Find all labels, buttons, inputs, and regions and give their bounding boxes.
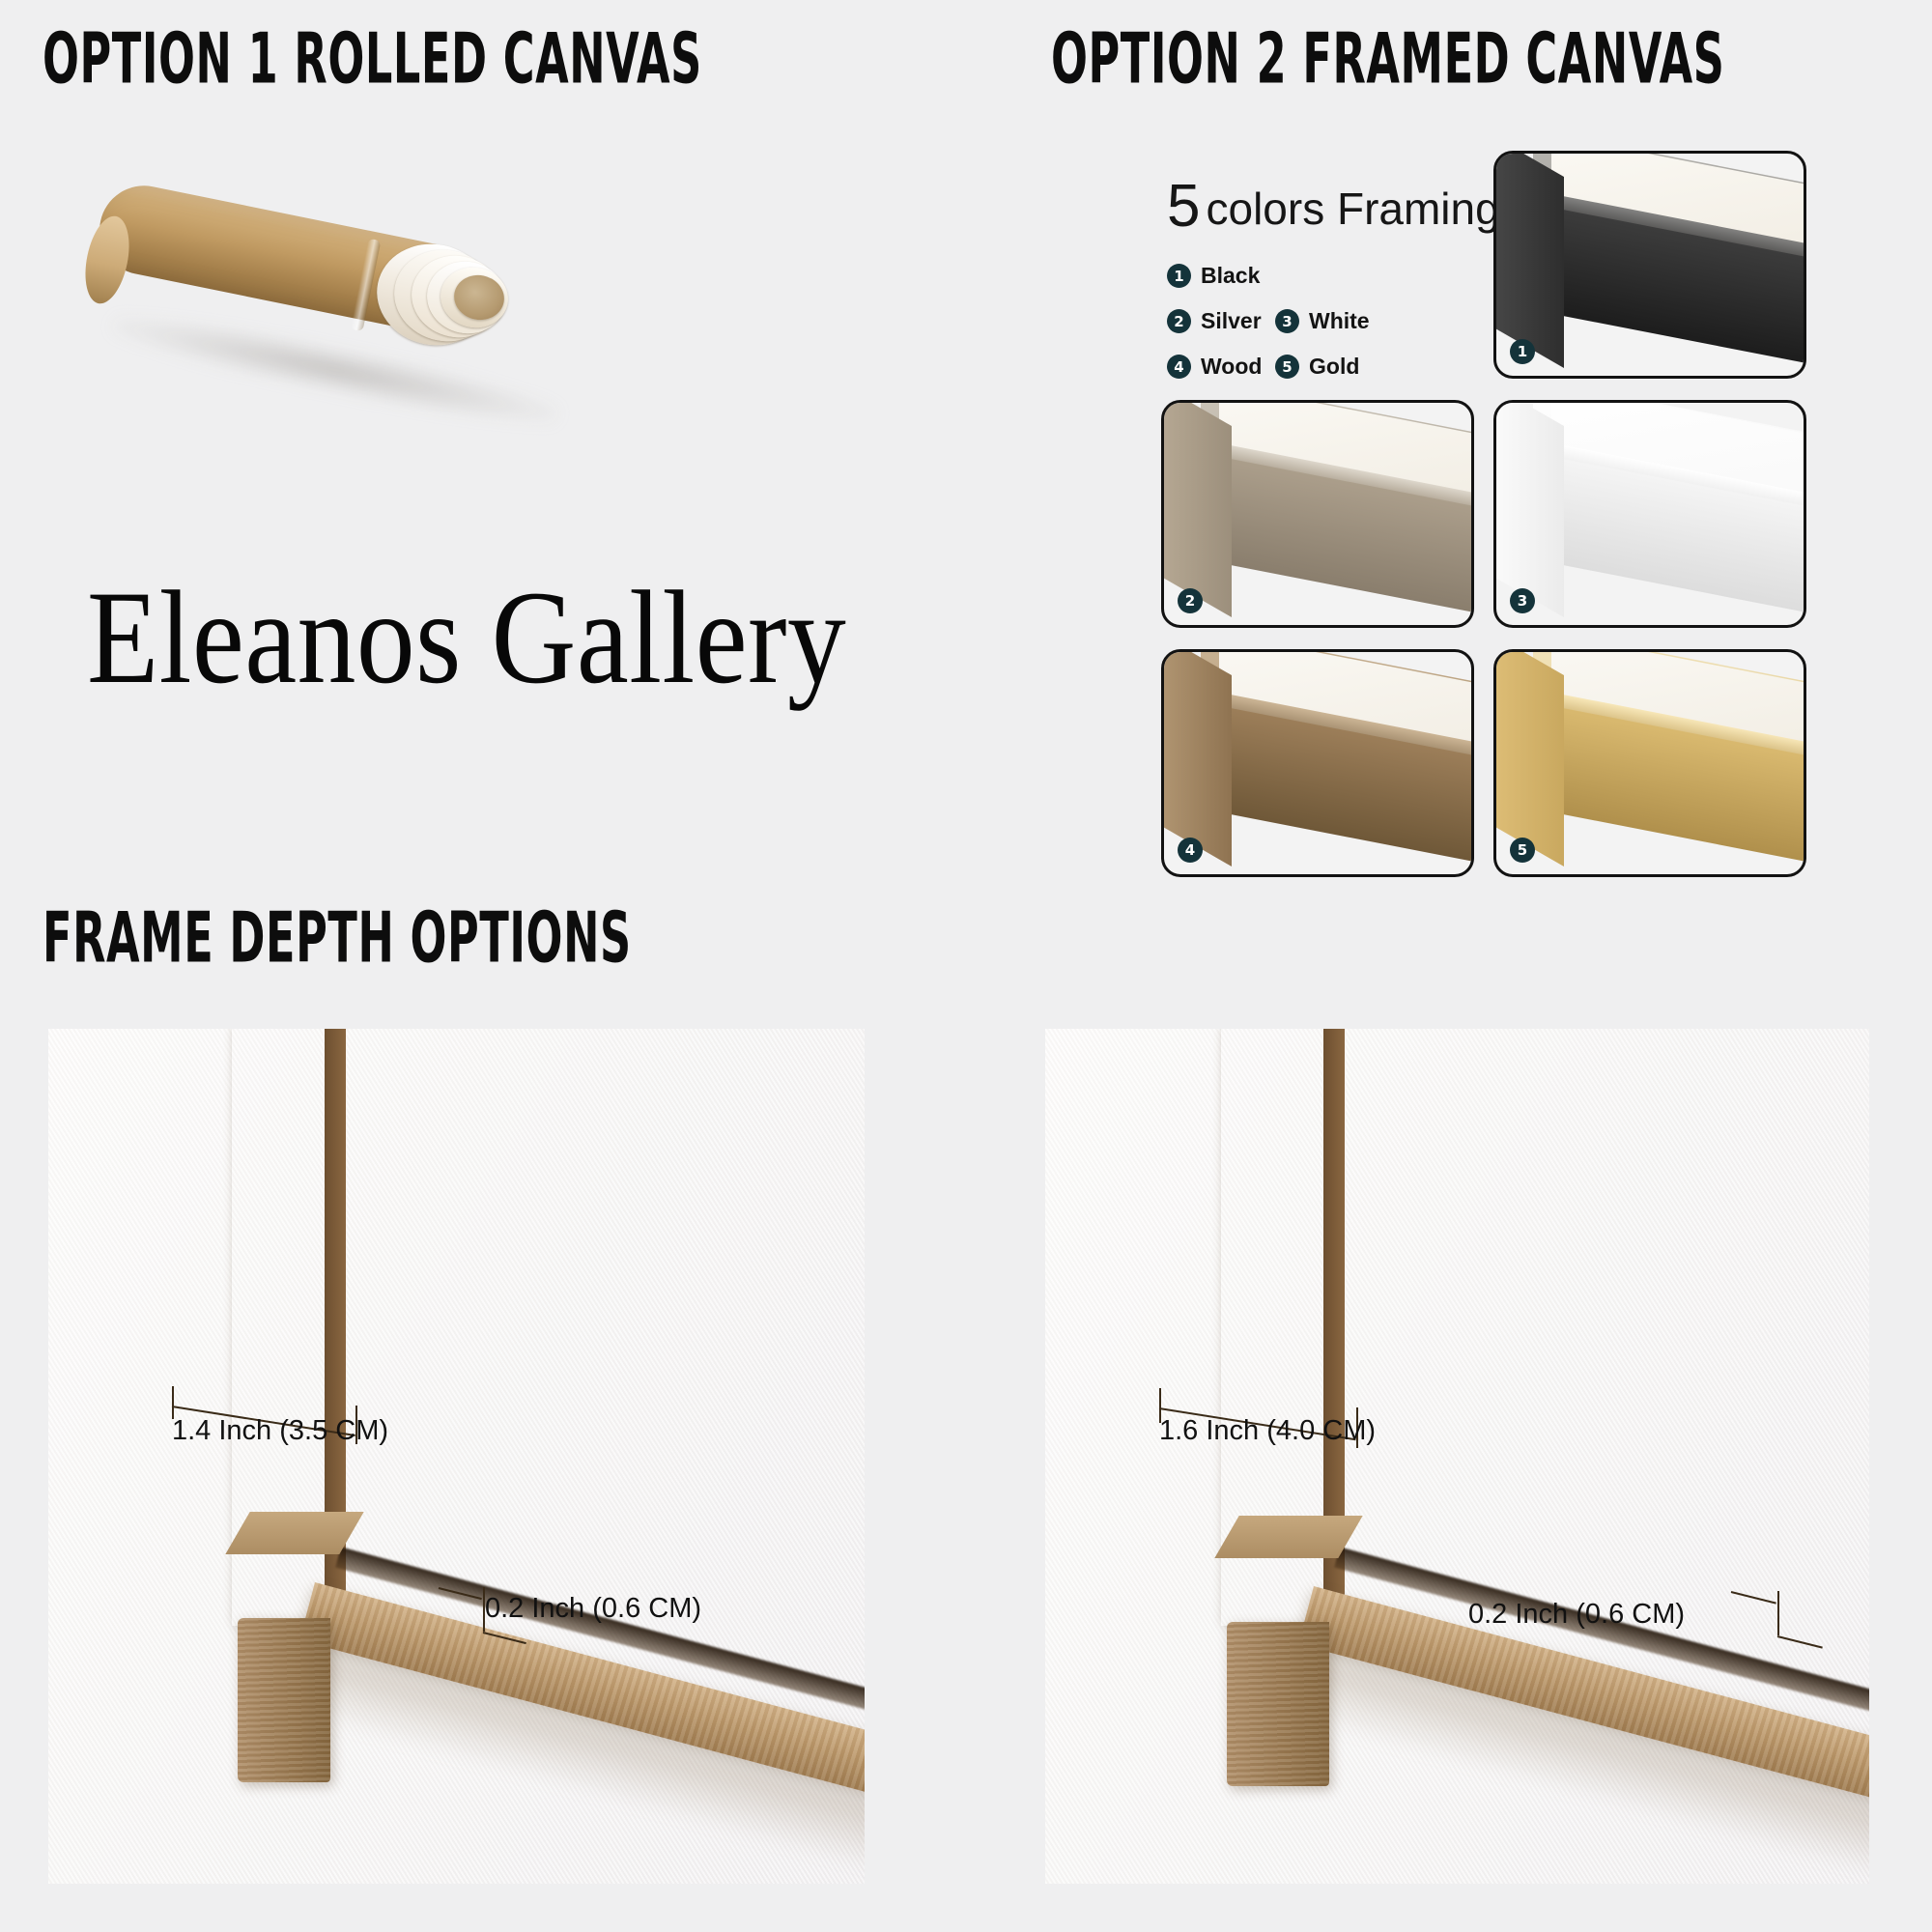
legend-label: Silver [1201, 308, 1262, 334]
legend-item-white[interactable]: 3 White [1275, 308, 1383, 334]
frame-corner-illustration [1164, 652, 1471, 874]
frame-swatch-gold[interactable]: 5 [1493, 649, 1806, 877]
legend-row: 1 Black [1167, 263, 1486, 289]
frame-swatch-white[interactable]: 3 [1493, 400, 1806, 628]
frame-corner-illustration [1496, 154, 1804, 376]
legend-label: White [1309, 308, 1370, 334]
legend-label: Wood [1201, 354, 1262, 380]
framing-count: 5 [1167, 173, 1200, 240]
number-badge-icon: 3 [1275, 309, 1299, 333]
number-badge-icon: 5 [1275, 355, 1299, 379]
frame-left-rail [1493, 400, 1564, 617]
infographic-canvas: OPTION 1 ROLLED CANVAS OPTION 2 FRAMED C… [0, 0, 1932, 1932]
frame-left-rail [1161, 400, 1232, 617]
frame-swatch-silver[interactable]: 2 [1161, 400, 1474, 628]
frame-left-rail [1493, 151, 1564, 368]
framing-heading-text: colors Framing [1206, 184, 1499, 234]
legend-label: Gold [1309, 354, 1359, 380]
number-badge-icon: 4 [1178, 838, 1203, 863]
frame-corner-illustration [1164, 403, 1471, 625]
brand-logo: Eleanos Gallery [87, 560, 846, 714]
frame-corner-block [238, 1618, 330, 1782]
number-badge-icon: 5 [1510, 838, 1535, 863]
number-badge-icon: 1 [1510, 339, 1535, 364]
frame-depth-photo-1: 1.4 Inch (3.5 CM) 0.2 Inch (0.6 CM) [48, 1029, 865, 1884]
legend-row: 4 Wood 5 Gold [1167, 354, 1486, 380]
number-badge-icon: 2 [1167, 309, 1191, 333]
frame-depth-title: FRAME DEPTH OPTIONS [43, 896, 632, 979]
frame-corner-block [1227, 1622, 1329, 1786]
frame-corner-illustration [1496, 652, 1804, 874]
thickness-dimension-label: 0.2 Inch (0.6 CM) [485, 1593, 701, 1625]
frame-depth-photo-2: 1.6 Inch (4.0 CM) 0.2 Inch (0.6 CM) [1045, 1029, 1869, 1884]
depth-dimension-label: 1.6 Inch (4.0 CM) [1159, 1415, 1376, 1447]
legend-item-wood[interactable]: 4 Wood [1167, 354, 1275, 380]
thickness-dimension-label: 0.2 Inch (0.6 CM) [1468, 1599, 1685, 1631]
depth-dimension-label: 1.4 Inch (3.5 CM) [172, 1415, 388, 1447]
frame-corner-illustration [1496, 403, 1804, 625]
number-badge-icon: 3 [1510, 588, 1535, 613]
frame-left-rail [1161, 649, 1232, 867]
legend-label: Black [1201, 263, 1260, 289]
framing-colors-heading: 5colors Framing [1167, 172, 1500, 241]
rolled-canvas-tube-image [87, 159, 609, 449]
option-1-title: OPTION 1 ROLLED CANVAS [43, 17, 702, 99]
legend-item-silver[interactable]: 2 Silver [1167, 308, 1275, 334]
number-badge-icon: 2 [1178, 588, 1203, 613]
legend-item-gold[interactable]: 5 Gold [1275, 354, 1383, 380]
framing-color-legend: 1 Black 2 Silver 3 White 4 Wood 5 Gold [1167, 263, 1486, 399]
frame-left-rail [1493, 649, 1564, 867]
legend-row: 2 Silver 3 White [1167, 308, 1486, 334]
number-badge-icon: 4 [1167, 355, 1191, 379]
legend-item-black[interactable]: 1 Black [1167, 263, 1275, 289]
number-badge-icon: 1 [1167, 264, 1191, 288]
frame-swatch-black[interactable]: 1 [1493, 151, 1806, 379]
option-2-title: OPTION 2 FRAMED CANVAS [1051, 17, 1724, 99]
rail-bottom-face [1214, 1516, 1362, 1558]
frame-swatch-wood[interactable]: 4 [1161, 649, 1474, 877]
